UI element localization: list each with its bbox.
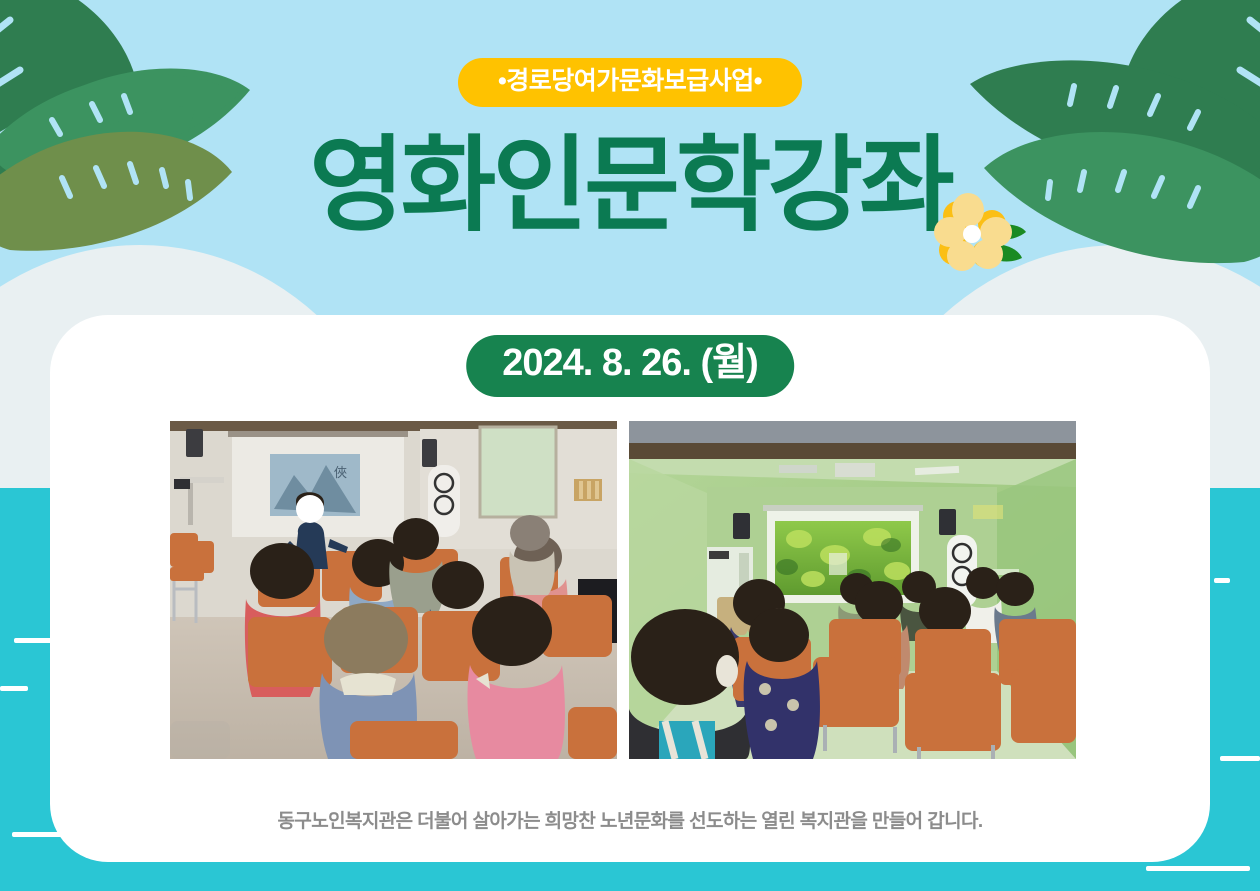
dash-mark-right-2 bbox=[1220, 756, 1260, 761]
flower-icon bbox=[930, 192, 1026, 276]
poster-canvas: •경로당여가문화보급사업• 영화인문학강좌 bbox=[0, 0, 1260, 891]
event-date-badge: 2024. 8. 26. (월) bbox=[466, 335, 794, 397]
dash-mark-left-1 bbox=[14, 638, 62, 643]
photo-film-viewing bbox=[629, 421, 1076, 759]
dash-mark-right-1 bbox=[1214, 578, 1230, 583]
page-title: 영화인문학강좌 bbox=[0, 132, 1260, 241]
program-badge: •경로당여가문화보급사업• bbox=[458, 58, 802, 107]
photo-gallery: 俠 bbox=[170, 421, 1076, 759]
flower-center bbox=[963, 225, 981, 243]
dash-mark-right-3 bbox=[1146, 866, 1250, 871]
footer-caption: 동구노인복지관은 더불어 살아가는 희망찬 노년문화를 선도하는 열린 복지관을… bbox=[0, 806, 1260, 833]
photo-lecture-instructor: 俠 bbox=[170, 421, 617, 759]
svg-text:俠: 俠 bbox=[334, 465, 347, 480]
dash-mark-left-2 bbox=[0, 686, 28, 691]
